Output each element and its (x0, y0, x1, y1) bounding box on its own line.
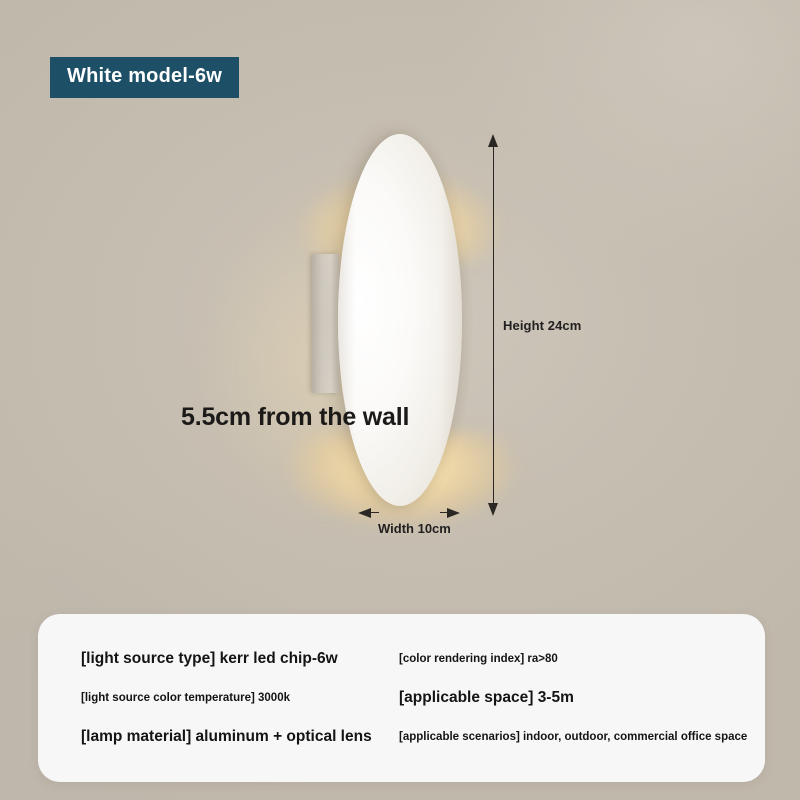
width-arrow-left-icon (358, 508, 371, 518)
spec-light-source-type: [light source type] kerr led chip-6w (81, 650, 399, 668)
specification-card: [light source type] kerr led chip-6w [co… (38, 614, 765, 782)
product-image-scene: Height 24cm Width 10cm 5.5cm from the wa… (0, 0, 800, 800)
width-arrow-right-tail (440, 512, 448, 513)
spec-applicable-space: [applicable space] 3-5m (399, 689, 747, 707)
width-arrow-right-icon (447, 508, 460, 518)
height-arrow-up-icon (488, 134, 498, 147)
spec-color-temperature: [light source color temperature] 3000k (81, 692, 399, 704)
height-dimension-line (493, 142, 494, 508)
spec-lamp-material: [lamp material] aluminum + optical lens (81, 728, 399, 746)
depth-callout-label: 5.5cm from the wall (181, 403, 409, 432)
height-dimension-label: Height 24cm (503, 318, 581, 333)
width-arrow-left-tail (371, 512, 379, 513)
lamp-oval-edge-shading (338, 134, 462, 506)
specification-grid: [light source type] kerr led chip-6w [co… (38, 640, 765, 756)
wall-mount-bracket (312, 254, 339, 393)
width-dimension-label: Width 10cm (378, 521, 451, 536)
spec-color-rendering-index: [color rendering index] ra>80 (399, 653, 747, 665)
spec-applicable-scenarios: [applicable scenarios] indoor, outdoor, … (399, 731, 747, 743)
model-badge: White model-6w (50, 57, 239, 98)
height-arrow-down-icon (488, 503, 498, 516)
